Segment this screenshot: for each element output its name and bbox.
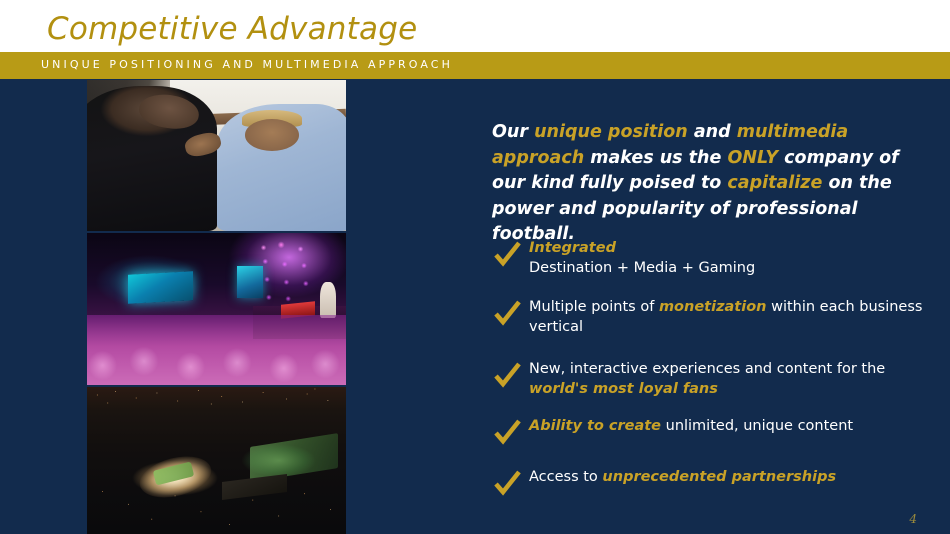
lede-highlight-unique-position: unique position: [534, 122, 688, 142]
list-item: Access to unprecedented partnerships: [492, 465, 942, 499]
lede-seg-3: and: [688, 122, 737, 142]
list-item-text: Access to unprecedented partnerships: [529, 465, 942, 487]
photo-fist-bump: [87, 80, 346, 231]
photo-aerial-street-lights: [87, 481, 346, 534]
bullet-4-highlight: Ability to create: [529, 418, 661, 434]
bullet-4-post: unlimited, unique content: [661, 418, 853, 434]
bullet-2-highlight: monetization: [659, 299, 767, 315]
check-icon: [492, 418, 522, 448]
list-item: Ability to create unlimited, unique cont…: [492, 414, 942, 448]
list-item-text: New, interactive experiences and content…: [529, 357, 942, 399]
list-item-text: Multiple points of monetization within e…: [529, 295, 942, 337]
list-item: Multiple points of monetization within e…: [492, 295, 942, 337]
list-item: Integrated Destination + Media + Gaming: [492, 236, 942, 278]
bullet-5-pre: Access to: [529, 469, 602, 485]
lede-highlight-only: ONLY: [727, 148, 778, 168]
list-item: New, interactive experiences and content…: [492, 357, 942, 399]
check-icon: [492, 469, 522, 499]
bullet-3-highlight: world's most loyal fans: [529, 381, 718, 397]
page-subtitle: UNIQUE POSITIONING AND MULTIMEDIA APPROA…: [41, 58, 453, 71]
check-icon: [492, 361, 522, 391]
photo-stack: [87, 80, 346, 534]
photo-aerial-city-lights: [87, 387, 346, 437]
list-item-text: Ability to create unlimited, unique cont…: [529, 414, 942, 436]
photo-concert-jumbotron-left: [128, 271, 193, 303]
check-icon: [492, 240, 522, 270]
bullet-3-pre: New, interactive experiences and content…: [529, 361, 885, 377]
lede-seg-5: makes us the: [584, 148, 727, 168]
photo-fist-bump-boy-face: [245, 119, 299, 151]
bullet-2-pre: Multiple points of: [529, 299, 659, 315]
lede-seg-1: Our: [492, 122, 534, 142]
page-title: Competitive Advantage: [47, 9, 417, 49]
check-icon: [492, 299, 522, 329]
photo-concert-crowd: [87, 233, 346, 385]
slide: Competitive Advantage UNIQUE POSITIONING…: [0, 0, 950, 534]
photo-aerial-stadium: [87, 387, 346, 534]
benefit-list: Integrated Destination + Media + Gaming …: [492, 236, 942, 513]
photo-concert-performer: [320, 282, 336, 318]
photo-concert-audience: [87, 315, 346, 385]
bullet-1-subtext: Destination + Media + Gaming: [529, 260, 755, 276]
bullet-1-heading: Integrated: [529, 240, 616, 256]
bullet-5-highlight: unprecedented partnerships: [602, 469, 836, 485]
list-item-text: Integrated Destination + Media + Gaming: [529, 236, 942, 278]
lede-paragraph: Our unique position and multimedia appro…: [492, 120, 934, 248]
lede-highlight-capitalize: capitalize: [727, 173, 822, 193]
page-number: 4: [909, 512, 917, 526]
